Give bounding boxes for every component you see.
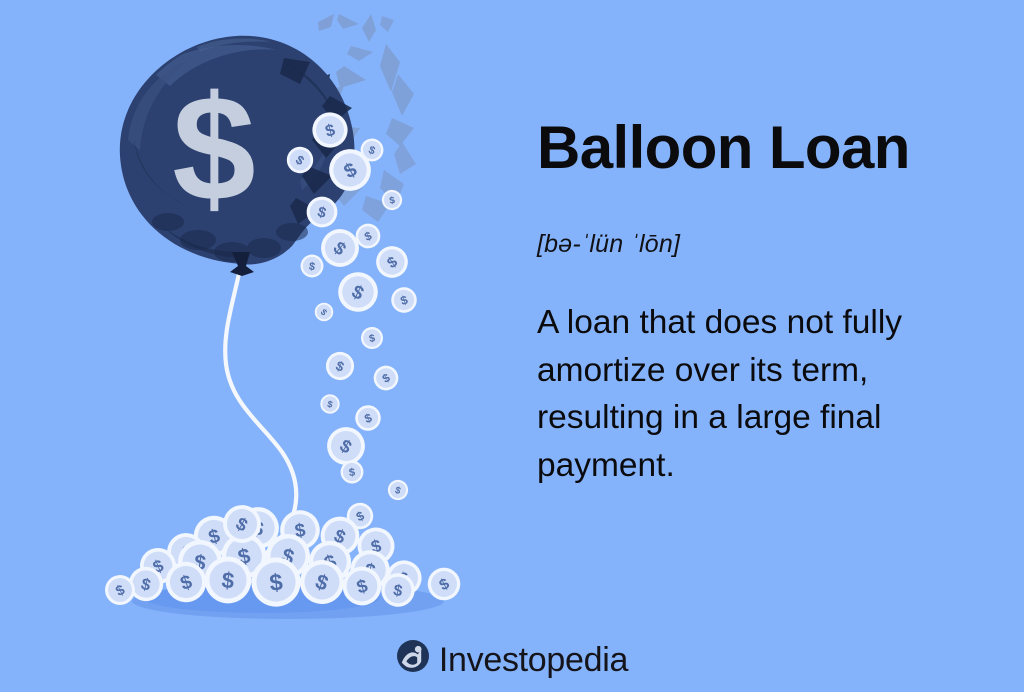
term-text-column: Balloon Loan [bə-ˈlün ˈlōn] A loan that … <box>537 118 987 489</box>
investopedia-wordmark: Investopedia <box>439 643 628 677</box>
page-title: Balloon Loan <box>537 118 987 178</box>
balloon-dollar-sign: $ <box>172 64 255 232</box>
illustration-money-balloon: $ <box>0 0 500 640</box>
balloon-body: $ <box>120 36 355 276</box>
coin-pile <box>100 498 466 610</box>
investopedia-logo: Investopedia <box>0 639 1024 678</box>
falling-coins <box>282 109 420 534</box>
balloon-illustration-svg: $ <box>0 0 500 640</box>
definition-text: A loan that does not fully amortize over… <box>537 259 969 489</box>
definition-card: $ <box>0 0 1024 692</box>
investopedia-mark-icon <box>396 639 430 678</box>
pronunciation: [bə-ˈlün ˈlōn] <box>537 178 987 259</box>
